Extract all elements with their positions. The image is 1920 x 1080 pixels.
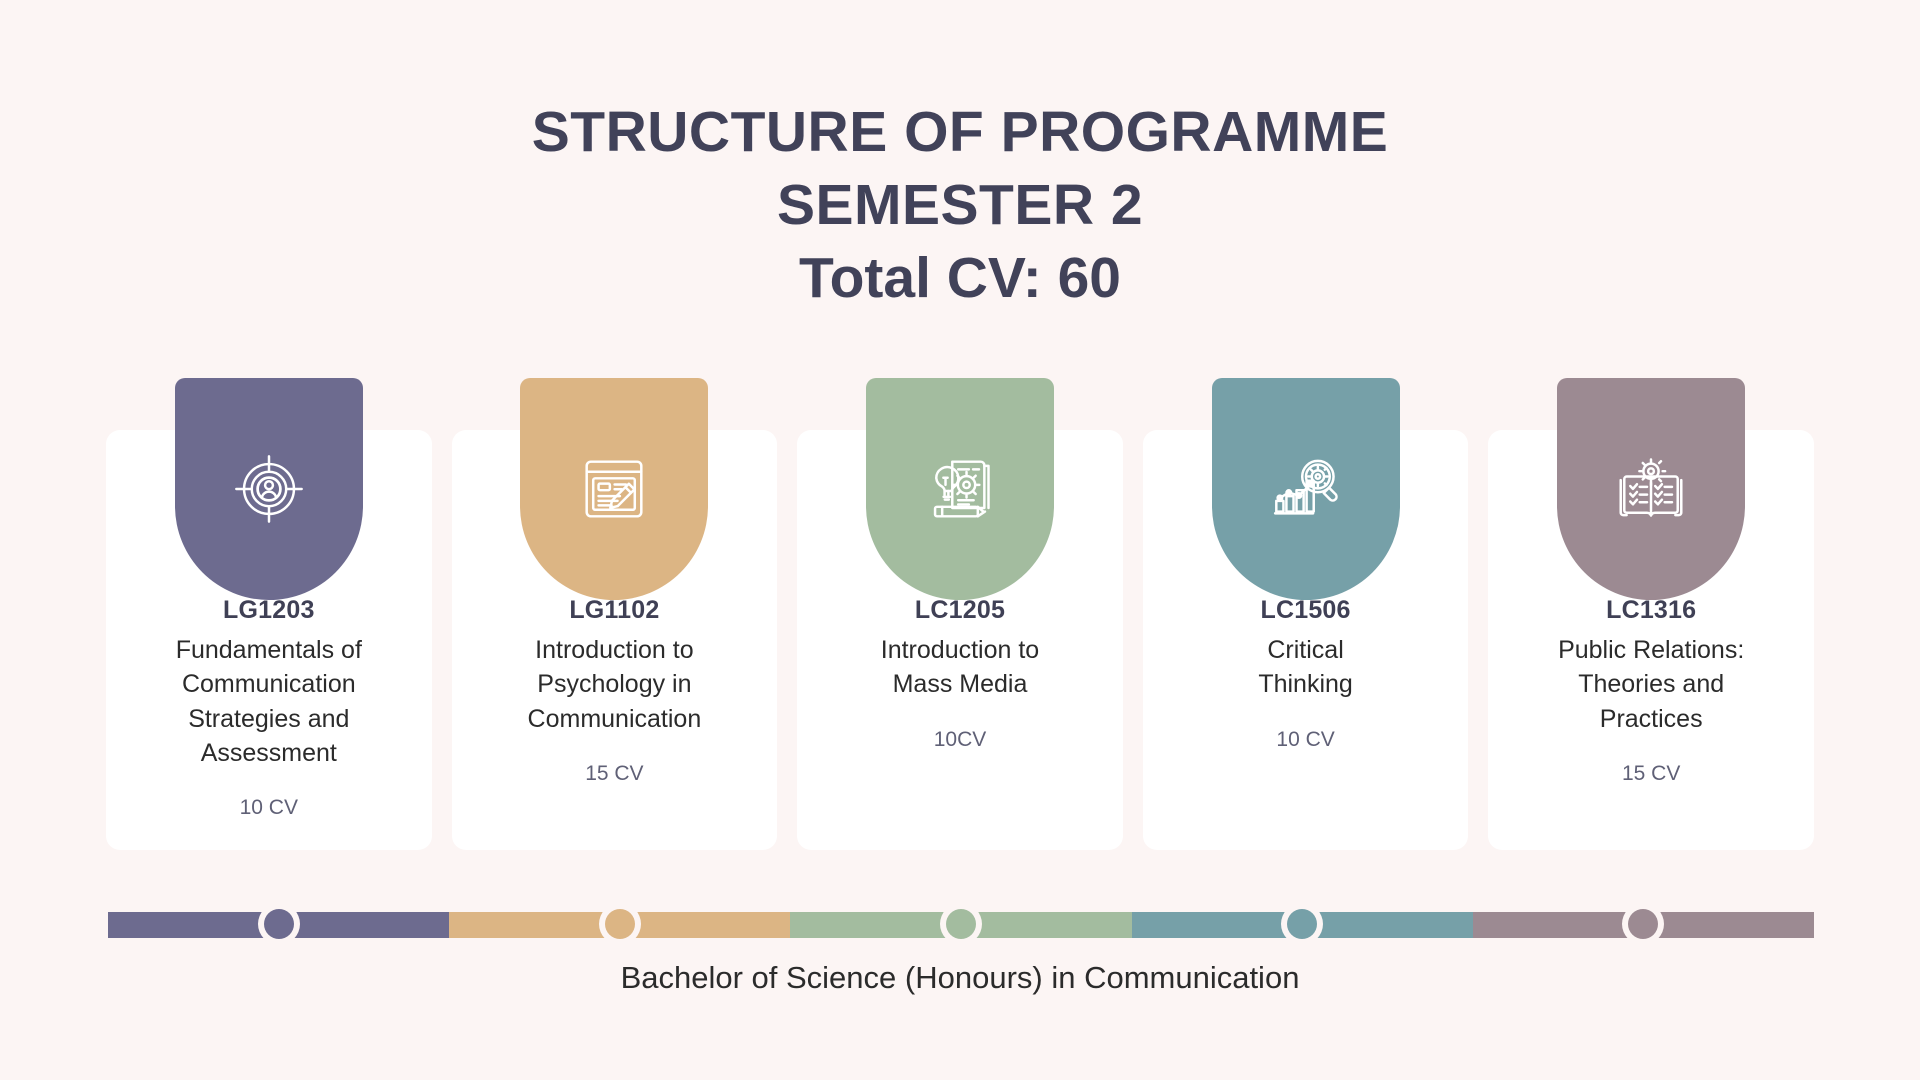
course-code: LG1203 (106, 596, 432, 625)
course-name: Fundamentals of Communication Strategies… (106, 633, 432, 770)
progress-marker-dot (264, 909, 294, 939)
course-card-lg1102[interactable]: LG1102 Introduction to Psychology in Com… (452, 430, 778, 850)
lightbulb-gear-document-icon (922, 451, 998, 527)
course-name: Critical Thinking (1143, 633, 1469, 702)
progress-marker[interactable] (940, 903, 982, 945)
card-badge (866, 378, 1054, 600)
slide-canvas: STRUCTURE OF PROGRAMME SEMESTER 2 Total … (0, 0, 1920, 1080)
card-badge (520, 378, 708, 600)
course-credit-value: 10 CV (106, 796, 432, 820)
progress-marker[interactable] (599, 903, 641, 945)
progress-marker-dot (1287, 909, 1317, 939)
course-name: Introduction to Psychology in Communicat… (452, 633, 778, 736)
course-code: LC1506 (1143, 596, 1469, 625)
course-name: Public Relations: Theories and Practices (1488, 633, 1814, 736)
card-badge (1212, 378, 1400, 600)
course-credit-value: 15 CV (452, 762, 778, 786)
progress-marker[interactable] (258, 903, 300, 945)
course-code: LC1205 (797, 596, 1123, 625)
card-badge (1557, 378, 1745, 600)
course-card-lc1506[interactable]: LC1506 Critical Thinking 10 CV (1143, 430, 1469, 850)
course-code: LG1102 (452, 596, 778, 625)
course-cards-row: LG1203 Fundamentals of Communication Str… (106, 430, 1814, 850)
course-card-lc1316[interactable]: LC1316 Public Relations: Theories and Pr… (1488, 430, 1814, 850)
progress-marker[interactable] (1281, 903, 1323, 945)
target-person-icon (231, 451, 307, 527)
semester-progress-bar (108, 895, 1814, 953)
book-checklist-gear-icon (1613, 451, 1689, 527)
title-line-2: SEMESTER 2 (0, 169, 1920, 242)
programme-name-footer: Bachelor of Science (Honours) in Communi… (0, 960, 1920, 996)
course-name: Introduction to Mass Media (797, 633, 1123, 702)
progress-marker[interactable] (1622, 903, 1664, 945)
course-card-lc1205[interactable]: LC1205 Introduction to Mass Media 10CV (797, 430, 1123, 850)
progress-markers (108, 895, 1814, 953)
course-credit-value: 15 CV (1488, 762, 1814, 786)
title-line-1: STRUCTURE OF PROGRAMME (0, 96, 1920, 169)
course-code: LC1316 (1488, 596, 1814, 625)
page-title: STRUCTURE OF PROGRAMME SEMESTER 2 Total … (0, 96, 1920, 315)
course-card-lg1203[interactable]: LG1203 Fundamentals of Communication Str… (106, 430, 432, 850)
chart-magnifier-gear-icon (1268, 451, 1344, 527)
card-badge (175, 378, 363, 600)
course-credit-value: 10CV (797, 728, 1123, 752)
course-credit-value: 10 CV (1143, 728, 1469, 752)
progress-marker-dot (1628, 909, 1658, 939)
progress-marker-dot (946, 909, 976, 939)
document-pencil-icon (576, 451, 652, 527)
progress-marker-dot (605, 909, 635, 939)
title-line-3: Total CV: 60 (0, 242, 1920, 315)
